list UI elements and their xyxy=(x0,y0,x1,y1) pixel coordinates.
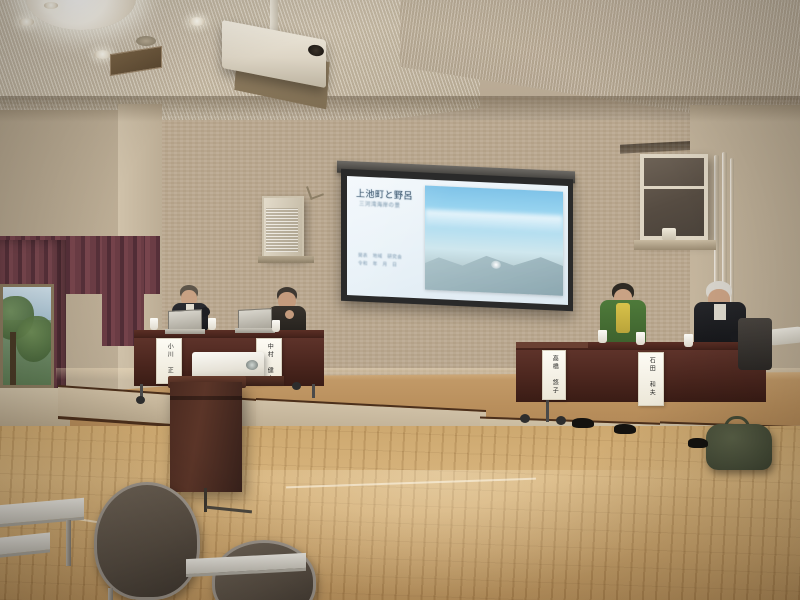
cup-3 xyxy=(272,320,280,332)
portable-projector-lens-icon xyxy=(246,360,258,370)
audience-chair-1[interactable] xyxy=(94,482,200,600)
right-table-caster-1 xyxy=(520,414,530,423)
downlight-3 xyxy=(189,17,205,26)
cup-6 xyxy=(684,334,693,347)
shoe-2 xyxy=(614,424,636,434)
panelist-3-scarf xyxy=(616,303,630,333)
photo-clouds xyxy=(425,210,563,232)
downlight-4 xyxy=(44,2,58,9)
projection-screen: 上池町と野呂 三河湾海岸の景 発表 地域 研究会 令和 年 月 日 xyxy=(347,176,568,305)
left-table-caster-1 xyxy=(136,396,145,404)
laptop-2-base[interactable] xyxy=(235,328,275,333)
panelist-chair[interactable] xyxy=(738,318,772,370)
panelist-4-shirt xyxy=(714,304,726,320)
conference-room-photo: 上池町と野呂 三河湾海岸の景 発表 地域 研究会 令和 年 月 日 xyxy=(0,0,800,600)
cup-4 xyxy=(598,330,607,343)
left-table-leg-2 xyxy=(312,384,315,398)
audience-table-1-leg xyxy=(66,520,71,566)
shoe-3 xyxy=(688,438,708,448)
audience-chair-1-leg xyxy=(108,588,113,600)
laptop-1-base[interactable] xyxy=(165,329,205,334)
slide-photo xyxy=(425,186,563,296)
cup-2 xyxy=(208,318,216,330)
speaker-grille xyxy=(266,208,298,252)
slide-subtitle: 三河湾海岸の景 xyxy=(359,200,400,210)
downlight-2 xyxy=(94,50,111,59)
placard-right-2-name: 石田 和夫 xyxy=(648,357,655,397)
placard-right-1-name: 高橋 悠子 xyxy=(551,355,558,395)
right-table-caster-2 xyxy=(556,416,566,425)
wall-ceiling-shadow xyxy=(0,96,800,122)
booth-equipment xyxy=(662,228,676,240)
booth-shelf xyxy=(634,240,716,250)
panelist-2-hand xyxy=(285,310,294,319)
placard-right-2: 石田 和夫 xyxy=(638,352,664,406)
shoulder-bag xyxy=(706,424,772,470)
window-frame xyxy=(0,284,54,388)
slide-content: 上池町と野呂 三河湾海岸の景 発表 地域 研究会 令和 年 月 日 xyxy=(347,176,568,305)
photo-highlight xyxy=(491,261,501,269)
slide-note-line-2: 令和 年 月 日 xyxy=(358,260,397,268)
right-table-rail xyxy=(516,342,588,348)
lectern-trim xyxy=(170,396,242,400)
photo-mountain-ridge xyxy=(425,243,563,296)
right-table-leg-1 xyxy=(546,398,549,422)
wall-pipe-3 xyxy=(730,158,734,326)
cup-5 xyxy=(636,332,645,345)
shoe-1 xyxy=(572,418,594,428)
downlight-1 xyxy=(19,18,34,26)
window-mullion xyxy=(644,186,704,189)
speaker-shelf xyxy=(258,256,314,263)
placard-right-1: 高橋 悠子 xyxy=(542,350,566,400)
ceiling-smoke-detector xyxy=(136,36,156,46)
slide-note-line-1: 発表 地域 研究会 xyxy=(358,252,402,260)
left-table-caster-2 xyxy=(292,382,301,390)
cup-1 xyxy=(150,318,158,330)
